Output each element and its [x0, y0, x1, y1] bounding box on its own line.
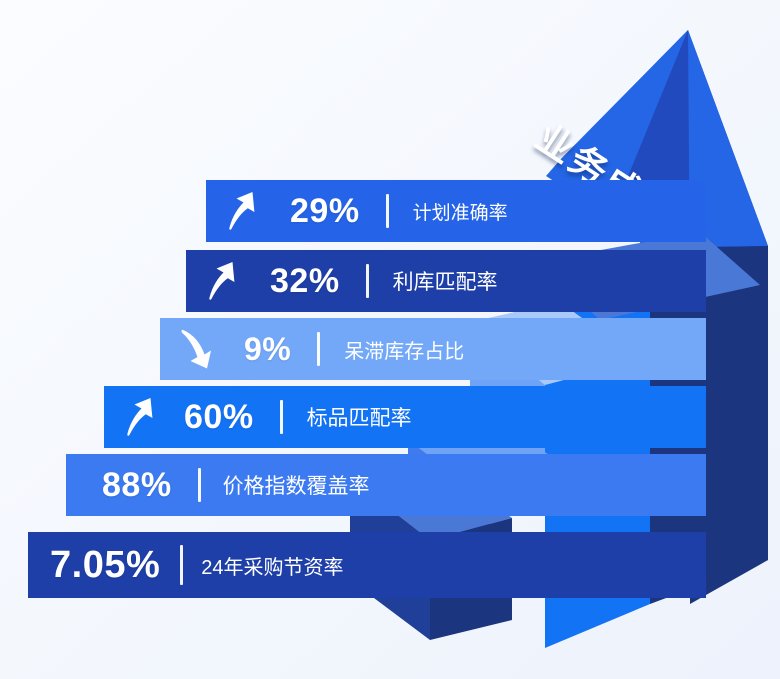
metric-row[interactable]: 32% 利库匹配率: [186, 250, 706, 312]
metric-row[interactable]: 88% 价格指数覆盖率: [66, 454, 706, 516]
metric-label: 价格指数覆盖率: [223, 470, 370, 500]
arrow-up-icon: [220, 189, 264, 233]
metric-value: 88%: [102, 466, 172, 505]
metric-value: 60%: [184, 398, 254, 437]
metric-row[interactable]: 29% 计划准确率: [206, 180, 706, 242]
arrow-up-icon: [118, 395, 162, 439]
row-divider: [180, 545, 183, 585]
row-divider: [386, 194, 389, 228]
arrow-down-icon: [174, 327, 218, 371]
metric-value: 29%: [290, 192, 360, 231]
metric-label: 计划准确率: [413, 198, 508, 225]
arrow-up-icon: [200, 259, 244, 303]
row-divider: [198, 468, 201, 502]
metric-label: 利库匹配率: [393, 266, 498, 296]
metric-label: 标品匹配率: [307, 402, 412, 432]
infographic-canvas: 业务成效 29% 计划准确率 32% 利库匹配率 9% 呆滞库存占比: [0, 0, 780, 679]
metric-value: 32%: [270, 262, 340, 301]
row-divider: [317, 332, 320, 366]
metric-row[interactable]: 7.05% 24年采购节资率: [28, 532, 706, 598]
metric-value: 7.05%: [50, 544, 160, 587]
row-divider: [280, 400, 283, 434]
metric-label: 呆滞库存占比: [344, 335, 464, 364]
metric-row[interactable]: 60% 标品匹配率: [104, 386, 706, 448]
metric-label: 24年采购节资率: [201, 551, 343, 580]
row-divider: [366, 264, 369, 298]
metric-value: 9%: [244, 331, 291, 368]
metric-row[interactable]: 9% 呆滞库存占比: [160, 318, 706, 380]
